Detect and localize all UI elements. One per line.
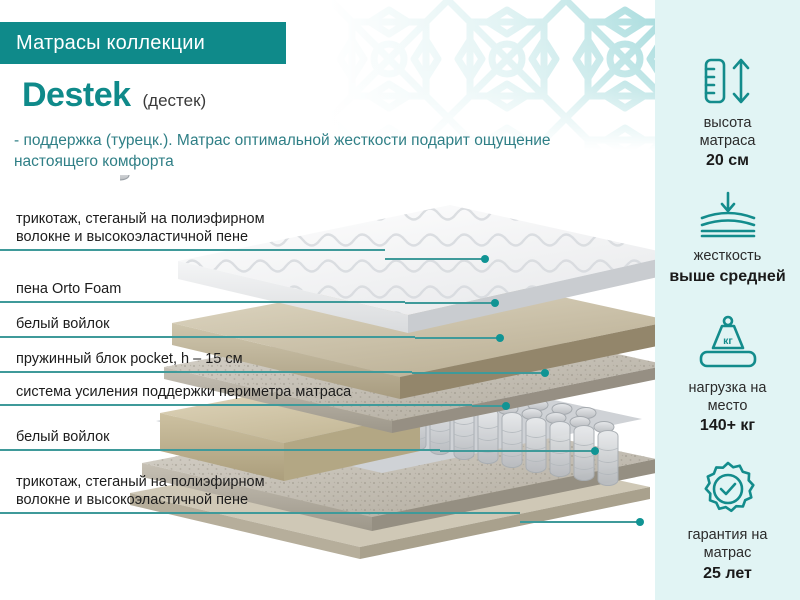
weight-icon-unit: кг xyxy=(723,335,733,347)
product-description: - поддержка (турецк.). Матрас оптимально… xyxy=(14,131,614,173)
badge-check-icon xyxy=(698,460,758,518)
callout-label: система усиления поддержки периметра мат… xyxy=(0,383,472,404)
brand-name: Destek xyxy=(22,78,131,112)
callout-dot xyxy=(541,369,549,377)
callout-leader xyxy=(412,372,545,374)
callout-dot xyxy=(496,334,504,342)
callout-white-felt-bottom: белый войлок xyxy=(0,428,440,451)
callout-pocket-spring: пружинный блок pocket, h – 15 см xyxy=(0,350,412,373)
collection-label: Матрасы коллекции xyxy=(0,32,205,55)
callout-dot xyxy=(481,255,489,263)
callout-label: белый войлок xyxy=(0,428,440,449)
spec-firmness: жесткость выше средней xyxy=(655,191,800,287)
spec-caption: высота матраса xyxy=(700,115,756,150)
callout-rule xyxy=(0,371,412,373)
callout-rule xyxy=(0,512,520,514)
spec-value: 25 лет xyxy=(703,564,752,584)
callout-leader xyxy=(472,405,506,407)
callout-dot xyxy=(636,518,644,526)
spec-caption: гарантия на матрас xyxy=(688,527,768,562)
callout-rule xyxy=(0,249,385,251)
callout-leader xyxy=(385,258,485,260)
callout-perimeter-support: система усиления поддержки периметра мат… xyxy=(0,383,472,406)
infographic-canvas: Матрасы коллекции Destek (дестек) - подд… xyxy=(0,0,800,600)
callout-dot xyxy=(502,402,510,410)
spec-warranty: гарантия на матрас 25 лет xyxy=(655,460,800,583)
collection-header-bar: Матрасы коллекции xyxy=(0,22,286,64)
spec-caption: жесткость xyxy=(694,248,762,266)
callout-label: пена Orto Foam xyxy=(0,280,405,301)
callout-knit-bottom: трикотаж, стеганый на полиэфирном волокн… xyxy=(0,473,520,514)
spec-caption: нагрузка на место xyxy=(689,380,767,415)
weight-kg-icon: кг xyxy=(692,313,764,371)
callout-dot xyxy=(591,447,599,455)
callout-leader xyxy=(440,450,595,452)
arrow-on-waves-icon xyxy=(694,191,762,239)
callout-rule xyxy=(0,336,415,338)
callout-leader xyxy=(415,337,500,339)
callout-label: пружинный блок pocket, h – 15 см xyxy=(0,350,412,371)
spec-sidebar: высота матраса 20 см жесткость выше сре xyxy=(655,0,800,600)
callout-rule xyxy=(0,449,440,451)
spec-value: 140+ кг xyxy=(700,416,755,436)
callout-orto-foam: пена Orto Foam xyxy=(0,280,405,303)
spec-height: высота матраса 20 см xyxy=(655,56,800,171)
callout-knit-top: трикотаж, стеганый на полиэфирном волокн… xyxy=(0,210,385,251)
callout-label: белый войлок xyxy=(0,315,415,336)
spec-load: кг нагрузка на место 140+ кг xyxy=(655,313,800,436)
callout-rule xyxy=(0,301,405,303)
spec-value: выше средней xyxy=(669,267,785,287)
callout-leader xyxy=(405,302,495,304)
brand-block: Destek (дестек) xyxy=(22,78,206,112)
spec-value: 20 см xyxy=(706,151,749,171)
callout-label: трикотаж, стеганый на полиэфирном волокн… xyxy=(0,473,520,512)
callout-white-felt-top: белый войлок xyxy=(0,315,415,338)
callout-leader xyxy=(520,521,640,523)
callout-label: трикотаж, стеганый на полиэфирном волокн… xyxy=(0,210,385,249)
callout-dot xyxy=(491,299,499,307)
brand-translit: (дестек) xyxy=(143,92,207,109)
callout-rule xyxy=(0,404,472,406)
ruler-arrow-icon xyxy=(697,56,759,106)
